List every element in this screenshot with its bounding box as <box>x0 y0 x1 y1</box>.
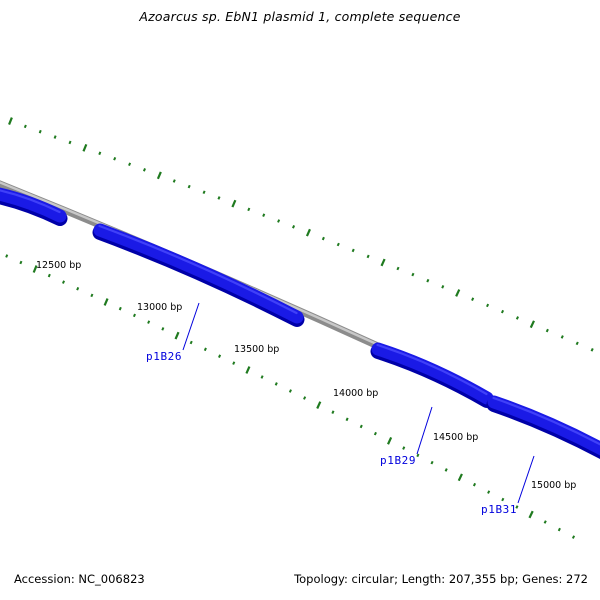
tick-marks-upper <box>9 118 600 378</box>
tick-minor <box>189 185 190 188</box>
tick-major <box>158 172 161 179</box>
tick-minor <box>144 168 145 171</box>
tick-minor <box>412 273 413 276</box>
tick-minor <box>446 469 447 472</box>
tick-major <box>459 474 462 481</box>
tick-minor <box>417 454 418 457</box>
tick-minor <box>592 348 593 351</box>
genome-map-viewer: Azoarcus sp. EbN1 plasmid 1, complete se… <box>0 0 600 600</box>
tick-minor <box>547 329 548 332</box>
tick-minor <box>323 237 324 240</box>
tick-major <box>232 200 235 207</box>
tick-minor <box>304 397 305 400</box>
tick-minor <box>120 307 121 310</box>
genome-stats-label: Topology: circular; Length: 207,355 bp; … <box>294 572 588 586</box>
tick-minor <box>573 536 574 539</box>
gene-label-group[interactable]: p1B29 <box>380 407 432 467</box>
tick-minor <box>559 528 560 531</box>
tick-minor <box>99 152 100 155</box>
coordinate-label: 13000 bp <box>137 302 182 313</box>
tick-major <box>317 402 320 409</box>
tick-major <box>105 299 108 306</box>
tick-minor <box>577 342 578 345</box>
tick-minor <box>474 483 475 486</box>
tick-major <box>246 367 249 374</box>
tick-minor <box>368 255 369 258</box>
gene-label-text[interactable]: p1B26 <box>146 350 182 363</box>
tick-minor <box>162 327 163 330</box>
tick-minor <box>502 310 503 313</box>
tick-major <box>9 118 12 125</box>
tick-minor <box>49 274 50 277</box>
tick-minor <box>203 191 204 194</box>
tick-minor <box>431 461 432 464</box>
tick-minor <box>205 348 206 351</box>
tick-minor <box>278 220 279 223</box>
tick-minor <box>346 418 347 421</box>
tick-marks-lower <box>0 233 574 538</box>
tick-major <box>83 144 86 151</box>
tick-minor <box>472 298 473 301</box>
gene-body <box>378 349 487 398</box>
tick-minor <box>442 285 443 288</box>
genome-map-canvas[interactable]: 12500 bp13000 bp13500 bp14000 bp14500 bp… <box>0 0 600 600</box>
tick-minor <box>114 157 115 160</box>
tick-major <box>456 290 459 297</box>
tick-minor <box>487 304 488 307</box>
tick-minor <box>134 314 135 317</box>
gene-feature[interactable] <box>494 398 600 463</box>
tick-minor <box>562 336 563 339</box>
gene-features[interactable] <box>0 186 600 463</box>
tick-minor <box>6 255 7 258</box>
gene-label-leader-line <box>417 407 432 454</box>
tick-minor <box>69 141 70 144</box>
tick-minor <box>338 243 339 246</box>
tick-minor <box>263 214 264 217</box>
coordinate-label: 14500 bp <box>433 432 478 443</box>
coordinate-label: 15000 bp <box>531 480 576 491</box>
tick-minor <box>397 267 398 270</box>
tick-major <box>382 259 385 266</box>
tick-minor <box>233 362 234 365</box>
tick-minor <box>174 180 175 183</box>
gene-label-text[interactable]: p1B29 <box>380 454 416 467</box>
tick-major <box>531 321 534 328</box>
tick-minor <box>488 491 489 494</box>
tick-minor <box>502 498 503 501</box>
tick-minor <box>545 521 546 524</box>
coordinate-label: 13500 bp <box>234 344 279 355</box>
tick-minor <box>361 425 362 428</box>
tick-minor <box>218 197 219 200</box>
coordinate-labels: 12500 bp13000 bp13500 bp14000 bp14500 bp… <box>36 260 576 491</box>
tick-minor <box>191 341 192 344</box>
coordinate-label: 14000 bp <box>333 388 378 399</box>
tick-major <box>307 229 310 236</box>
tick-minor <box>375 432 376 435</box>
gene-label-text[interactable]: p1B31 <box>481 503 517 516</box>
tick-major <box>529 511 532 518</box>
tick-minor <box>248 208 249 211</box>
tick-minor <box>25 125 26 128</box>
tick-minor <box>276 383 277 386</box>
tick-minor <box>403 447 404 450</box>
coordinate-label: 12500 bp <box>36 260 81 271</box>
tick-minor <box>290 390 291 393</box>
tick-major <box>176 332 179 339</box>
tick-minor <box>148 321 149 324</box>
tick-minor <box>293 225 294 228</box>
tick-minor <box>77 287 78 290</box>
tick-minor <box>129 163 130 166</box>
tick-minor <box>427 279 428 282</box>
tick-minor <box>20 261 21 264</box>
tick-minor <box>55 136 56 139</box>
tick-minor <box>353 249 354 252</box>
tick-minor <box>517 317 518 320</box>
tick-minor <box>63 281 64 284</box>
tick-minor <box>91 294 92 297</box>
tick-minor <box>219 355 220 358</box>
gene-feature[interactable] <box>378 345 488 401</box>
tick-major <box>388 437 391 444</box>
tick-minor <box>40 130 41 133</box>
accession-label: Accession: NC_006823 <box>14 572 145 586</box>
tick-minor <box>332 411 333 414</box>
tick-minor <box>261 376 262 379</box>
gene-label-group[interactable]: p1B31 <box>481 456 534 516</box>
